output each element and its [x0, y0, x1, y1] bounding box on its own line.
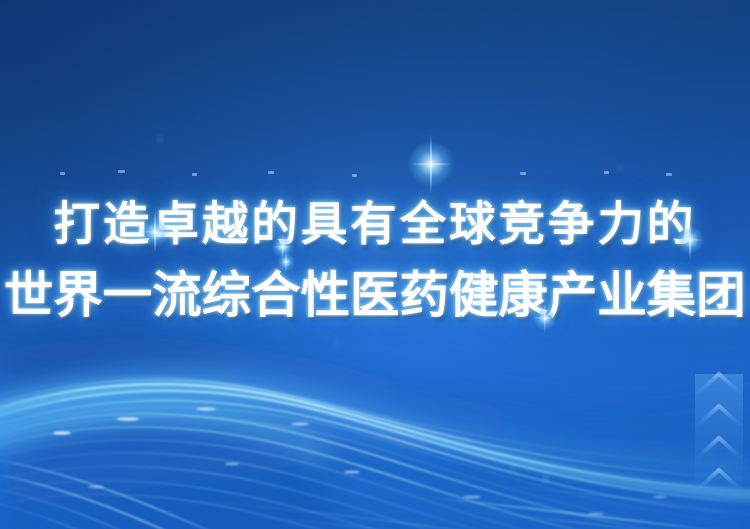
- sparkle-dot: [53, 431, 71, 434]
- sparkle-dot: [344, 471, 360, 474]
- slogan-banner: 打造卓越的具有全球竞争力的 世界一流综合性医药健康产业集团: [0, 0, 750, 529]
- sparkle-dot: [291, 423, 309, 426]
- particle: [666, 173, 672, 176]
- sparkle-dot: [334, 341, 338, 345]
- sparkle-dot: [463, 496, 481, 499]
- particle: [118, 170, 125, 173]
- sparkle-dot: [117, 417, 139, 420]
- particle: [352, 174, 357, 177]
- sparkle-dot: [653, 496, 667, 498]
- sparkle-dot: [544, 476, 549, 481]
- sparkle-dot: [696, 270, 700, 274]
- particle: [604, 171, 609, 174]
- sparkle-dot: [88, 486, 104, 489]
- sparkle-dot: [510, 466, 514, 470]
- particle: [268, 171, 274, 174]
- particle: [60, 172, 65, 175]
- sparkle-dot: [618, 166, 622, 170]
- sparkle-dot: [588, 513, 604, 516]
- background-artwork: [0, 0, 750, 529]
- sparkle-dot: [225, 463, 239, 466]
- particle: [520, 172, 526, 175]
- particle: [192, 173, 197, 176]
- sparkle-dot: [158, 136, 162, 140]
- sparkle-dot: [196, 408, 216, 411]
